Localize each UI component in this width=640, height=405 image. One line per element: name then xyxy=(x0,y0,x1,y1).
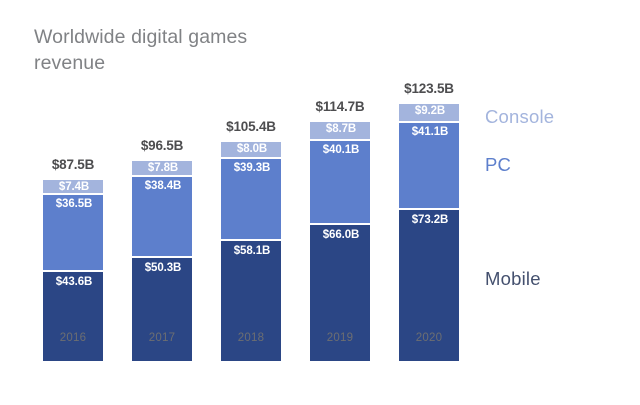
segment-label-console-2016: $7.4B xyxy=(43,181,105,193)
segment-console-2017[interactable]: $7.8B xyxy=(131,160,193,176)
x-axis-tick-2018: 2018 xyxy=(220,332,282,344)
segment-label-console-2020: $9.2B xyxy=(399,105,461,117)
segment-label-mobile-2018: $58.1B xyxy=(221,245,283,257)
x-axis-tick-2020: 2020 xyxy=(398,332,460,344)
segment-mobile-2017[interactable]: $50.3B xyxy=(131,257,193,362)
bar-total-label-2017: $96.5B xyxy=(141,138,183,153)
chart-container: Worldwide digital games revenue $87.5B $… xyxy=(0,0,640,405)
legend-label-console: Console xyxy=(485,106,554,127)
segment-label-mobile-2017: $50.3B xyxy=(132,262,194,274)
segment-label-pc-2019: $40.1B xyxy=(310,144,372,156)
legend-item-pc[interactable]: PC xyxy=(485,154,511,176)
segment-label-console-2017: $7.8B xyxy=(132,162,194,174)
segment-label-pc-2018: $39.3B xyxy=(221,162,283,174)
legend-item-mobile[interactable]: Mobile xyxy=(485,268,541,290)
plot-area: $87.5B $7.4B $36.5B $43.6B 2016 $96.5B $… xyxy=(0,0,640,405)
x-axis-tick-2019: 2019 xyxy=(309,332,371,344)
legend-label-mobile: Mobile xyxy=(485,268,541,289)
bar-total-label-2016: $87.5B xyxy=(52,157,94,172)
segment-console-2020[interactable]: $9.2B xyxy=(398,103,460,122)
segment-console-2016[interactable]: $7.4B xyxy=(42,179,104,195)
segment-pc-2018[interactable]: $39.3B xyxy=(220,158,282,240)
legend-label-pc: PC xyxy=(485,154,511,175)
segment-label-mobile-2016: $43.6B xyxy=(43,276,105,288)
segment-label-pc-2020: $41.1B xyxy=(399,126,461,138)
segment-label-pc-2016: $36.5B xyxy=(43,198,105,210)
segment-label-mobile-2019: $66.0B xyxy=(310,229,372,241)
x-axis-tick-2017: 2017 xyxy=(131,332,193,344)
x-axis-tick-2016: 2016 xyxy=(42,332,104,344)
legend-item-console[interactable]: Console xyxy=(485,106,554,128)
segment-label-console-2018: $8.0B xyxy=(221,143,283,155)
bar-stack-2018: $8.0B $39.3B $58.1B xyxy=(220,141,282,362)
segment-pc-2016[interactable]: $36.5B xyxy=(42,194,104,271)
segment-label-pc-2017: $38.4B xyxy=(132,180,194,192)
bar-total-label-2019: $114.7B xyxy=(316,99,365,114)
bar-stack-2020: $9.2B $41.1B $73.2B xyxy=(398,103,460,362)
segment-pc-2019[interactable]: $40.1B xyxy=(309,140,371,224)
segment-label-console-2019: $8.7B xyxy=(310,123,372,135)
bar-total-label-2020: $123.5B xyxy=(404,81,454,96)
segment-console-2018[interactable]: $8.0B xyxy=(220,141,282,158)
segment-label-mobile-2020: $73.2B xyxy=(399,214,461,226)
segment-console-2019[interactable]: $8.7B xyxy=(309,121,371,139)
segment-pc-2017[interactable]: $38.4B xyxy=(131,176,193,257)
bar-total-label-2018: $105.4B xyxy=(226,119,276,134)
segment-pc-2020[interactable]: $41.1B xyxy=(398,122,460,208)
segment-mobile-2016[interactable]: $43.6B xyxy=(42,271,104,362)
bar-stack-2019: $8.7B $40.1B $66.0B xyxy=(309,121,371,362)
